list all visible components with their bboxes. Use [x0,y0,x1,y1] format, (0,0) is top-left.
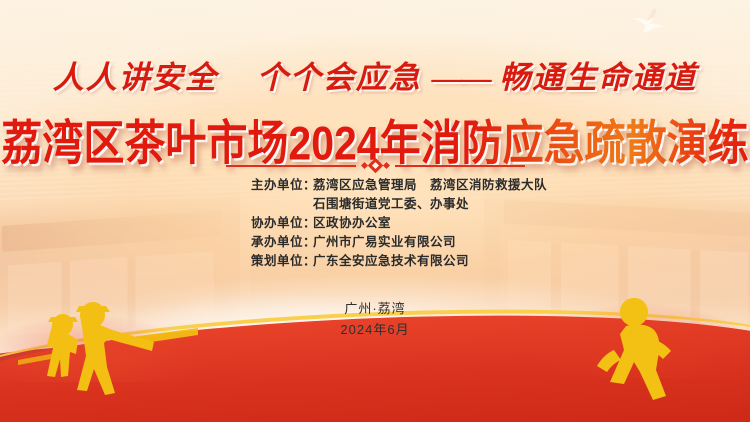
organizer-colon: ： [303,252,313,271]
organizer-value: 广州市广易实业有限公司 [313,233,456,252]
organizer-row: 协办单位 ： 区政协办公室 [225,214,525,233]
organizer-colon: ： [303,214,313,233]
slogan-spacer [228,60,248,95]
slogan-part-2: 个个会应急 [257,60,422,95]
diamond-ornament-icon [362,160,389,171]
ornament-dot-left [360,162,367,169]
poster-slogan: 人人讲安全 个个会应急 —— 畅通生命通道 [0,52,750,97]
organizer-colon: ： [303,233,313,252]
poster-content: 人人讲安全 个个会应急 —— 畅通生命通道 荔湾区茶叶市场2024年消防应急疏散… [0,0,750,422]
organizer-value: 广东全安应急技术有限公司 [313,252,469,271]
organizer-label: 主办单位 [225,176,303,195]
ornament-diamond [367,158,383,174]
organizer-row: 承办单位 ： 广州市广易实业有限公司 [225,233,525,252]
slogan-dash: —— [432,60,490,95]
decorative-divider [0,160,750,171]
organizer-row: 主办单位 ： 荔湾区应急管理局 荔湾区消防救援大队 [225,176,525,195]
organizer-value: 荔湾区应急管理局 荔湾区消防救援大队 [313,176,547,195]
organizer-list: 主办单位 ： 荔湾区应急管理局 荔湾区消防救援大队 主办单位 ： 石围塘街道党工… [0,176,750,271]
date-text: 2024年6月 [0,319,750,340]
organizer-value: 石围塘街道党工委、办事处 [313,195,469,214]
organizer-colon: ： [303,176,313,195]
slogan-part-1: 人人讲安全 [53,60,218,95]
organizer-label: 承办单位 [225,233,303,252]
divider-line-right [395,165,525,167]
organizer-label: 协办单位 [225,214,303,233]
organizer-row: 主办单位 ： 石围塘街道党工委、办事处 [225,195,525,214]
place-text: 广州·荔湾 [0,298,750,319]
place-and-date: 广州·荔湾 2024年6月 [0,298,750,340]
slogan-part-3: 畅通生命通道 [499,60,697,95]
divider-line-left [226,165,356,167]
organizer-label: 策划单位 [225,252,303,271]
ornament-dot-right [382,162,389,169]
organizer-value: 区政协办公室 [313,214,391,233]
poster-canvas: 人人讲安全 个个会应急 —— 畅通生命通道 荔湾区茶叶市场2024年消防应急疏散… [0,0,750,422]
organizer-row: 策划单位 ： 广东全安应急技术有限公司 [225,252,525,271]
